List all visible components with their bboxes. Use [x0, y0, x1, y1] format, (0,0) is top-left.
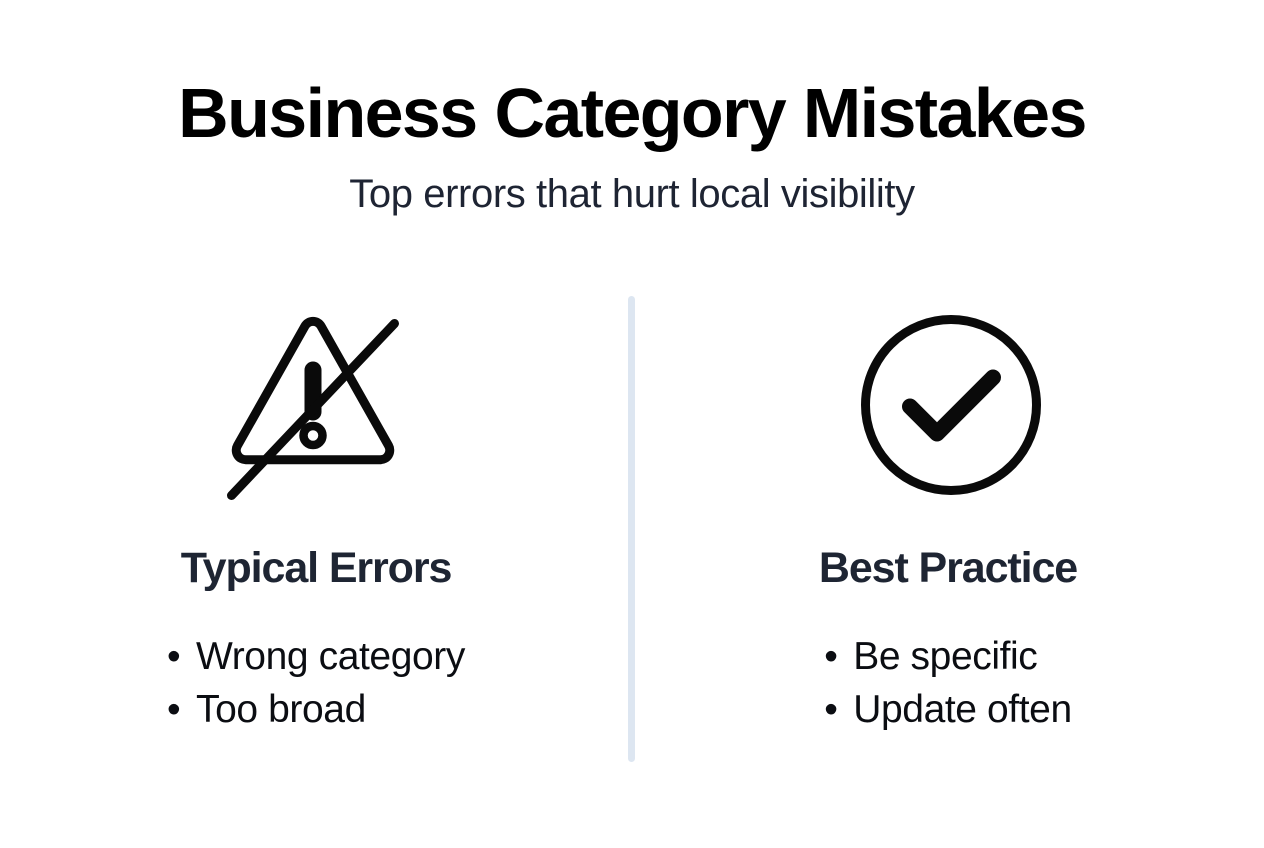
- bullet-marker: •: [824, 683, 853, 736]
- check-circle-icon: [851, 305, 1051, 505]
- warning-triangle-slashed-icon: [213, 305, 413, 505]
- bullet-list-best-practice: • Be specific • Update often: [824, 590, 1072, 736]
- bullet-list-typical-errors: • Wrong category • Too broad: [167, 590, 465, 736]
- column-best-practice: Best Practice • Be specific • Update oft…: [632, 296, 1264, 736]
- column-heading-best-practice: Best Practice: [819, 505, 1077, 590]
- bullet-marker: •: [167, 630, 196, 683]
- list-item-label: Wrong category: [196, 630, 465, 683]
- page-title: Business Category Mistakes: [0, 78, 1264, 148]
- list-item: • Update often: [824, 683, 1072, 736]
- bullet-marker: •: [167, 683, 196, 736]
- list-item: • Too broad: [167, 683, 465, 736]
- infographic-slide: Business Category Mistakes Top errors th…: [0, 0, 1264, 848]
- list-item-label: Too broad: [196, 683, 366, 736]
- bullet-marker: •: [824, 630, 853, 683]
- list-item-label: Update often: [853, 683, 1072, 736]
- page-subtitle: Top errors that hurt local visibility: [0, 148, 1264, 214]
- comparison-columns: Typical Errors • Wrong category • Too br…: [0, 296, 1264, 766]
- list-item: • Wrong category: [167, 630, 465, 683]
- column-typical-errors: Typical Errors • Wrong category • Too br…: [0, 296, 632, 736]
- list-item: • Be specific: [824, 630, 1072, 683]
- column-heading-typical-errors: Typical Errors: [181, 505, 452, 590]
- list-item-label: Be specific: [853, 630, 1037, 683]
- header: Business Category Mistakes Top errors th…: [0, 78, 1264, 214]
